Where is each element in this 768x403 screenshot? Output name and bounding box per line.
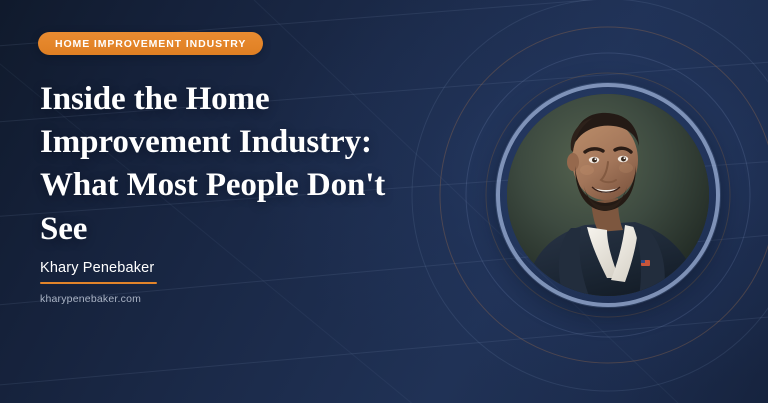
headline-line-2: Improvement Industry: [40, 124, 372, 160]
author-underline [40, 282, 157, 284]
headline-line-4: See [40, 211, 87, 247]
headline-line-1: Inside the Home [40, 81, 270, 117]
portrait-ring [496, 83, 720, 307]
category-badge: HOME IMPROVEMENT INDUSTRY [38, 32, 263, 55]
author-block: Khary Penebaker kharypenebaker.com [40, 259, 300, 305]
avatar [496, 83, 720, 307]
page-title: Inside the Home Improvement Industry: Wh… [40, 78, 440, 251]
episode-card: HOME IMPROVEMENT INDUSTRY Inside the Hom… [0, 0, 768, 403]
author-name: Khary Penebaker [40, 260, 154, 282]
headline-line-3: What Most People Don't [40, 167, 385, 203]
author-website: kharypenebaker.com [40, 293, 300, 305]
